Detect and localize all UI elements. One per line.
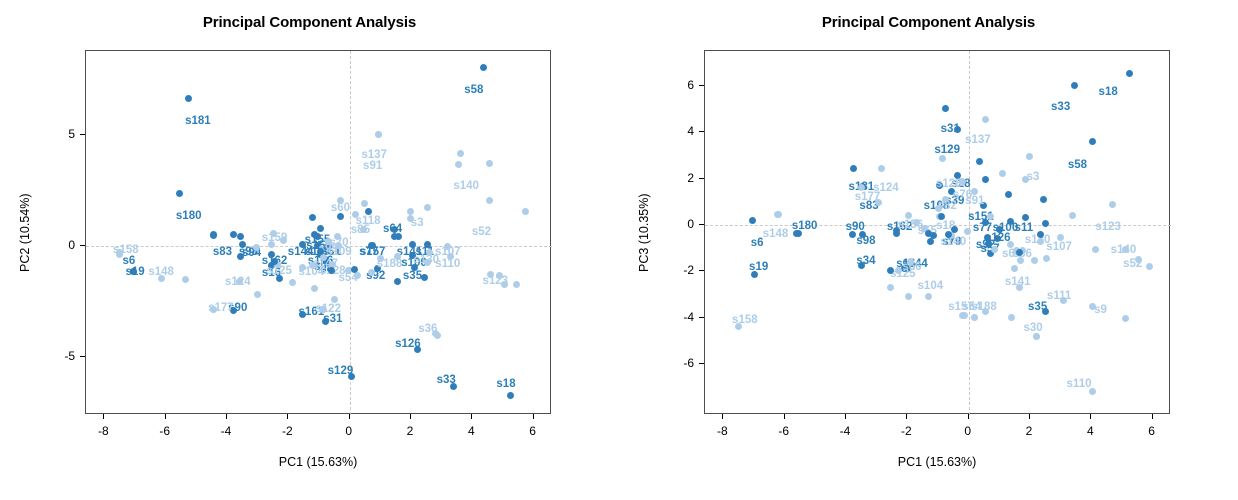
x-tick-label: -4	[221, 424, 232, 438]
scatter-point	[289, 279, 296, 286]
point-label: s58	[464, 85, 483, 97]
point-label: s52	[472, 227, 491, 239]
scatter-point	[182, 276, 189, 283]
scatter-point	[480, 64, 487, 71]
scatter-point	[935, 205, 942, 212]
scatter-point	[176, 190, 183, 197]
point-label: s52	[1123, 259, 1142, 271]
x-tick-mark	[226, 414, 227, 419]
x-tick-label: 6	[1148, 424, 1155, 438]
scatter-point	[354, 272, 361, 279]
x-tick-mark	[1090, 414, 1091, 419]
x-tick-mark	[533, 414, 534, 419]
scatter-point	[317, 225, 324, 232]
scatter-point	[925, 293, 932, 300]
point-label: s35	[403, 271, 422, 283]
scatter-point	[276, 275, 283, 282]
y-tick-mark	[699, 85, 704, 86]
y-tick-mark	[80, 356, 85, 357]
scatter-point	[1037, 231, 1044, 238]
scatter-point	[254, 291, 261, 298]
scatter-point	[507, 392, 514, 399]
scatter-point	[328, 267, 335, 274]
scatter-point	[1071, 82, 1078, 89]
scatter-point	[395, 233, 402, 240]
scatter-point	[987, 213, 994, 220]
x-tick-mark	[1152, 414, 1153, 419]
scatter-point	[230, 231, 237, 238]
x-tick-label: 0	[345, 424, 352, 438]
scatter-point	[455, 161, 462, 168]
point-label: s181	[185, 116, 211, 128]
scatter-point	[421, 274, 428, 281]
y-tick-label: 0	[68, 238, 75, 252]
y-tick-label: 6	[687, 78, 694, 92]
scatter-point	[878, 165, 885, 172]
y-tick-mark	[699, 270, 704, 271]
point-label: s141	[1005, 277, 1031, 289]
point-label: s98	[856, 236, 875, 248]
point-label: s137	[965, 135, 991, 147]
scatter-point	[210, 232, 217, 239]
x-tick-mark	[722, 414, 723, 419]
scatter-point	[331, 296, 338, 303]
x-tick-label: -6	[159, 424, 170, 438]
scatter-point	[749, 217, 756, 224]
point-label: s140	[1111, 245, 1137, 257]
scatter-point	[513, 281, 520, 288]
scatter-point	[1040, 196, 1047, 203]
scatter-point	[1011, 265, 1018, 272]
scatter-point	[1017, 257, 1024, 264]
scatter-point	[311, 285, 318, 292]
point-label: s31	[323, 314, 342, 326]
point-label: s91	[363, 161, 382, 173]
scatter-point	[1026, 153, 1033, 160]
y-tick-label: -6	[683, 356, 694, 370]
scatter-point	[1043, 255, 1050, 262]
point-label: s33	[1051, 102, 1070, 114]
scatter-point	[982, 176, 989, 183]
point-label: s18	[496, 379, 515, 391]
scatter-point	[971, 314, 978, 321]
x-tick-label: 4	[468, 424, 475, 438]
point-label: s148	[148, 267, 174, 279]
scatter-point	[237, 233, 244, 240]
scatter-point	[365, 208, 372, 215]
scatter-point	[1007, 241, 1014, 248]
y-tick-mark	[80, 134, 85, 135]
pca-panel-pc1-pc2: Principal Component Analysis s58s181s180…	[0, 0, 619, 500]
scatter-point	[434, 332, 441, 339]
scatter-point	[1122, 315, 1129, 322]
y-tick-label: 4	[687, 124, 694, 138]
scatter-point	[1146, 263, 1153, 270]
scatter-point	[939, 155, 946, 162]
scatter-point	[487, 271, 494, 278]
scatter-point	[486, 160, 493, 167]
scatter-point	[1005, 191, 1012, 198]
scatter-point	[1042, 220, 1049, 227]
page-title-right: Principal Component Analysis	[619, 14, 1238, 31]
x-tick-mark	[103, 414, 104, 419]
point-label: s180	[176, 211, 202, 223]
y-axis-title-right: PC3 (10.35%)	[637, 193, 651, 272]
scatter-point	[938, 213, 945, 220]
scatter-point	[1126, 70, 1133, 77]
scatter-point	[961, 312, 968, 319]
y-tick-label: -5	[64, 349, 75, 363]
y-tick-label: -4	[683, 310, 694, 324]
point-label: s30	[1023, 323, 1042, 335]
scatter-point	[991, 246, 998, 253]
scatter-point	[424, 204, 431, 211]
scatter-point	[311, 231, 318, 238]
scatter-point	[185, 95, 192, 102]
scatter-point	[875, 199, 882, 206]
point-label: s129	[328, 366, 354, 378]
scatter-point	[951, 226, 958, 233]
point-label: s104	[918, 281, 944, 293]
scatter-point	[976, 158, 983, 165]
scatter-point	[116, 251, 123, 258]
y-tick-mark	[699, 224, 704, 225]
y-tick-mark	[699, 178, 704, 179]
x-tick-label: 4	[1087, 424, 1094, 438]
x-tick-mark	[845, 414, 846, 419]
x-tick-mark	[165, 414, 166, 419]
x-tick-mark	[784, 414, 785, 419]
scatter-point	[337, 213, 344, 220]
scatter-point	[361, 200, 368, 207]
y-axis-title-left: PC2 (10.54%)	[18, 193, 32, 272]
point-label: s107	[1046, 242, 1072, 254]
point-label: s91	[965, 196, 984, 208]
scatter-point	[850, 165, 857, 172]
scatter-point	[964, 228, 971, 235]
x-tick-label: -2	[282, 424, 293, 438]
plot-area-left: s58s181s180s83s98s94s6s19s162s16s144s155…	[85, 50, 551, 414]
point-label: s148	[763, 229, 789, 241]
y-tick-mark	[699, 363, 704, 364]
scatter-point	[352, 211, 359, 218]
point-label: s19	[749, 262, 768, 274]
y-tick-label: -2	[683, 263, 694, 277]
y-tick-mark	[699, 317, 704, 318]
x-tick-label: -4	[840, 424, 851, 438]
scatter-point	[774, 211, 781, 218]
scatter-point	[299, 264, 306, 271]
x-tick-label: -8	[98, 424, 109, 438]
scatter-point	[1089, 138, 1096, 145]
x-tick-mark	[287, 414, 288, 419]
scatter-point	[942, 105, 949, 112]
x-tick-label: 2	[407, 424, 414, 438]
point-label: s9	[1094, 305, 1107, 317]
scatter-point	[945, 231, 952, 238]
scatter-point	[486, 197, 493, 204]
point-label: s111	[1047, 291, 1071, 303]
point-label: s140	[941, 237, 967, 249]
scatter-point	[501, 281, 508, 288]
scatter-point	[377, 255, 384, 262]
scatter-point	[457, 150, 464, 157]
point-label: s31	[941, 124, 960, 136]
scatter-point	[210, 306, 217, 313]
x-tick-mark	[968, 414, 969, 419]
scatter-point	[1033, 333, 1040, 340]
scatter-point	[1008, 314, 1015, 321]
x-tick-mark	[410, 414, 411, 419]
point-label: s58	[1068, 160, 1087, 172]
point-label: s18	[1099, 87, 1118, 99]
point-label: s188	[971, 302, 997, 314]
scatter-point	[522, 208, 529, 215]
scatter-point	[394, 278, 401, 285]
point-label: s66	[902, 262, 921, 274]
x-tick-mark	[1029, 414, 1030, 419]
scatter-point	[253, 244, 260, 251]
plot-area-right: s18s33s31s129s58s181s83s28s108s39s180s90…	[704, 50, 1170, 414]
x-tick-label: 0	[964, 424, 971, 438]
point-label: s6	[751, 238, 764, 250]
scatter-point	[1022, 176, 1029, 183]
point-label: s33	[437, 375, 456, 387]
scatter-point	[309, 214, 316, 221]
scatter-point	[268, 241, 275, 248]
scatter-point	[905, 293, 912, 300]
x-axis-title-left: PC1 (15.63%)	[85, 455, 551, 469]
scatter-point	[927, 238, 934, 245]
scatter-point	[1069, 212, 1076, 219]
point-label: s19	[125, 267, 144, 279]
pca-panel-pc1-pc3: Principal Component Analysis s18s33s31s1…	[619, 0, 1238, 500]
y-tick-mark	[699, 131, 704, 132]
scatter-point	[1109, 201, 1116, 208]
scatter-point	[887, 284, 894, 291]
scatter-point	[982, 116, 989, 123]
x-axis-title-right: PC1 (15.63%)	[704, 455, 1170, 469]
y-tick-mark	[80, 245, 85, 246]
scatter-point	[1022, 214, 1029, 221]
x-tick-mark	[471, 414, 472, 419]
y-tick-label: 2	[687, 171, 694, 185]
scatter-point	[999, 170, 1006, 177]
scatter-point	[887, 267, 894, 274]
scatter-point	[375, 131, 382, 138]
point-label: s83	[213, 247, 232, 259]
x-tick-label: -8	[717, 424, 728, 438]
scatter-point	[319, 306, 326, 313]
pca-figure: Principal Component Analysis s58s181s180…	[0, 0, 1238, 500]
point-label: s34	[856, 256, 875, 268]
x-tick-mark	[349, 414, 350, 419]
point-label: s129	[934, 145, 960, 157]
page-title-left: Principal Component Analysis	[0, 14, 619, 31]
point-label: s126	[395, 339, 421, 351]
point-label: s35	[1028, 302, 1047, 314]
scatter-point	[1016, 249, 1023, 256]
point-label: s123	[1095, 222, 1121, 234]
scatter-point	[1031, 257, 1038, 264]
x-tick-label: -2	[901, 424, 912, 438]
x-tick-label: 6	[529, 424, 536, 438]
x-tick-label: -6	[778, 424, 789, 438]
x-tick-label: 2	[1026, 424, 1033, 438]
y-tick-label: 0	[687, 217, 694, 231]
scatter-point	[1092, 246, 1099, 253]
point-label: s140	[453, 181, 479, 193]
point-label: s77	[359, 247, 378, 259]
point-label: s124	[225, 277, 251, 289]
y-tick-label: 5	[68, 127, 75, 141]
point-label: s110	[1067, 379, 1092, 391]
point-label: s158	[732, 315, 758, 327]
x-tick-mark	[906, 414, 907, 419]
